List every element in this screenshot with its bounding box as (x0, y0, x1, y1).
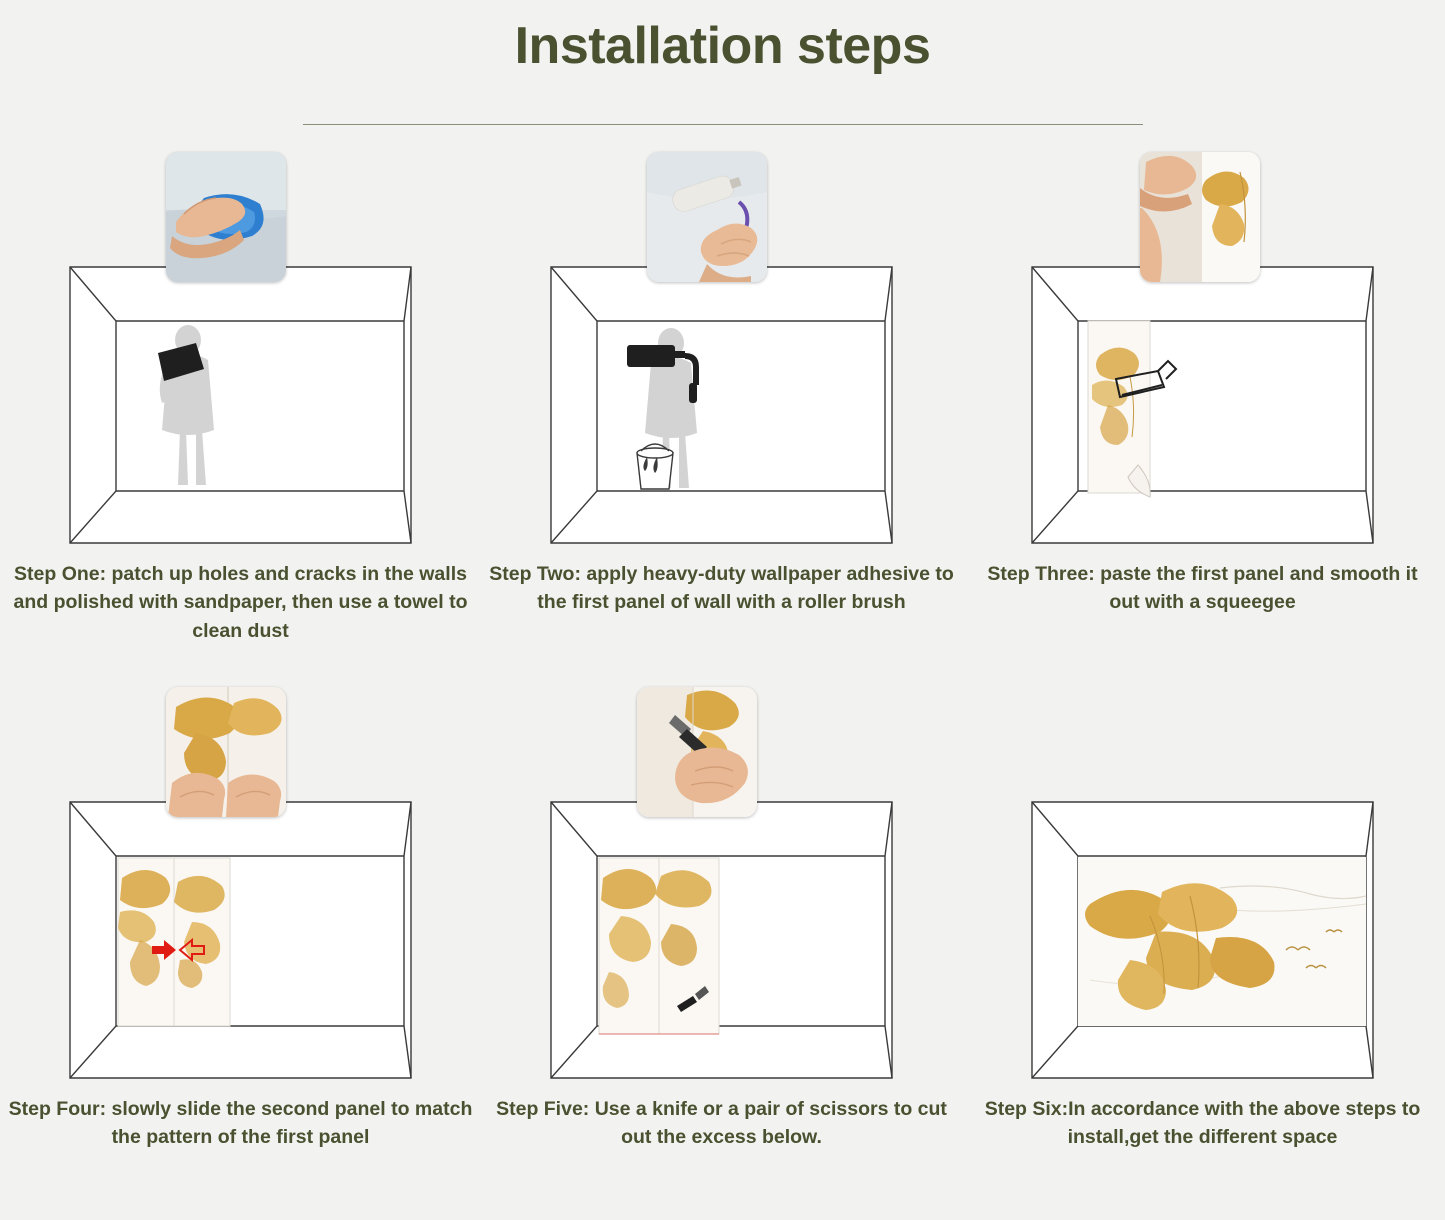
first-panel (1088, 321, 1150, 493)
steps-row-2: Step Four: slowly slide the second panel… (0, 685, 1445, 1220)
step-two-caption: Step Two: apply heavy-duty wallpaper adh… (481, 560, 962, 617)
step-one-caption: Step One: patch up holes and cracks in t… (0, 560, 481, 645)
step-six-scene (1030, 800, 1375, 1080)
step-six-caption: Step Six:In accordance with the above st… (962, 1095, 1443, 1152)
glue-bucket-icon (637, 444, 673, 489)
room-outline-6 (1030, 800, 1375, 1080)
hand-rolling-paint-roller-on-wall-photo (647, 152, 767, 282)
step-one-scene (68, 265, 413, 545)
step-one-cell: Step One: patch up holes and cracks in t… (0, 150, 481, 685)
hand-cutting-panel-with-knife-photo (637, 687, 757, 817)
step-six-cell: Step Six:In accordance with the above st… (962, 685, 1443, 1220)
step-three-caption: Step Three: paste the first panel and sm… (962, 560, 1443, 617)
step-five-scene (549, 800, 894, 1080)
steps-row-1: Step One: patch up holes and cracks in t… (0, 150, 1445, 685)
step-five-cell: Step Five: Use a knife or a pair of scis… (481, 685, 962, 1220)
room-outline-4 (68, 800, 413, 1080)
page-title: Installation steps (0, 0, 1445, 76)
hands-aligning-two-panels-photo (166, 687, 286, 817)
step-two-scene (549, 265, 894, 545)
hand-wiping-wall-with-blue-cloth-photo (166, 152, 286, 282)
step-two-cell: Step Two: apply heavy-duty wallpaper adh… (481, 150, 962, 685)
room-outline-2 (549, 265, 894, 545)
step-five-caption: Step Five: Use a knife or a pair of scis… (481, 1095, 962, 1152)
title-divider (303, 124, 1143, 125)
step-four-caption: Step Four: slowly slide the second panel… (0, 1095, 481, 1152)
room-outline-1 (68, 265, 413, 545)
steps-grid: Step One: patch up holes and cracks in t… (0, 150, 1445, 1220)
step-four-cell: Step Four: slowly slide the second panel… (0, 685, 481, 1220)
hands-pasting-mural-panel-photo (1140, 152, 1260, 282)
room-outline-5 (549, 800, 894, 1080)
step-three-cell: Step Three: paste the first panel and sm… (962, 150, 1443, 685)
room-outline-3 (1030, 265, 1375, 545)
step-four-scene (68, 800, 413, 1080)
step-three-scene (1030, 265, 1375, 545)
installed-panels (599, 858, 719, 1034)
panel-two (174, 858, 230, 1026)
